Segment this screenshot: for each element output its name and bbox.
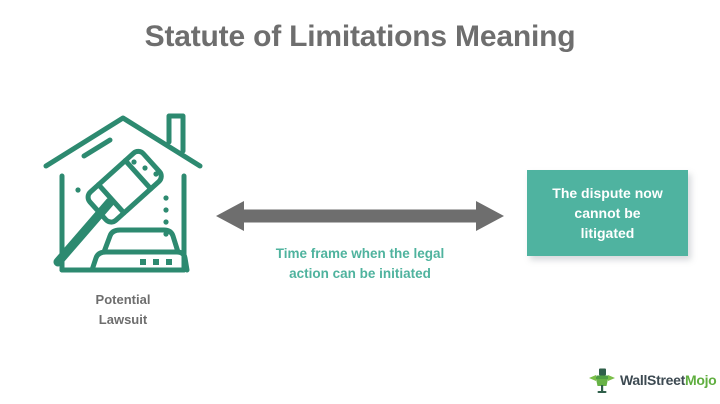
wallstreetmojo-logo: WallStreetMojo — [588, 366, 716, 394]
arrow-caption-line-2: action can be initiated — [215, 264, 505, 284]
logo-text-secondary: Mojo — [685, 372, 716, 388]
logo-text-primary: WallStreet — [620, 372, 685, 388]
arrow-caption: Time frame when the legal action can be … — [215, 244, 505, 284]
diagram-canvas: Statute of Limitations Meaning — [0, 0, 720, 404]
result-callout-text: The dispute now cannot be litigated — [552, 183, 662, 243]
result-line-3: litigated — [552, 223, 662, 243]
logo-text: WallStreetMojo — [620, 372, 716, 388]
result-line-2: cannot be — [552, 203, 662, 223]
double-headed-arrow-icon — [214, 198, 506, 234]
arrow-caption-line-1: Time frame when the legal — [215, 244, 505, 264]
house-with-gavel-icon — [38, 104, 208, 284]
result-callout-box: The dispute now cannot be litigated — [527, 170, 688, 256]
page-title: Statute of Limitations Meaning — [0, 20, 720, 54]
left-item-caption: Potential Lawsuit — [33, 290, 213, 330]
result-line-1: The dispute now — [552, 183, 662, 203]
wallstreetmojo-bull-icon — [588, 367, 616, 393]
caption-line-2: Lawsuit — [33, 310, 213, 330]
caption-line-1: Potential — [33, 290, 213, 310]
